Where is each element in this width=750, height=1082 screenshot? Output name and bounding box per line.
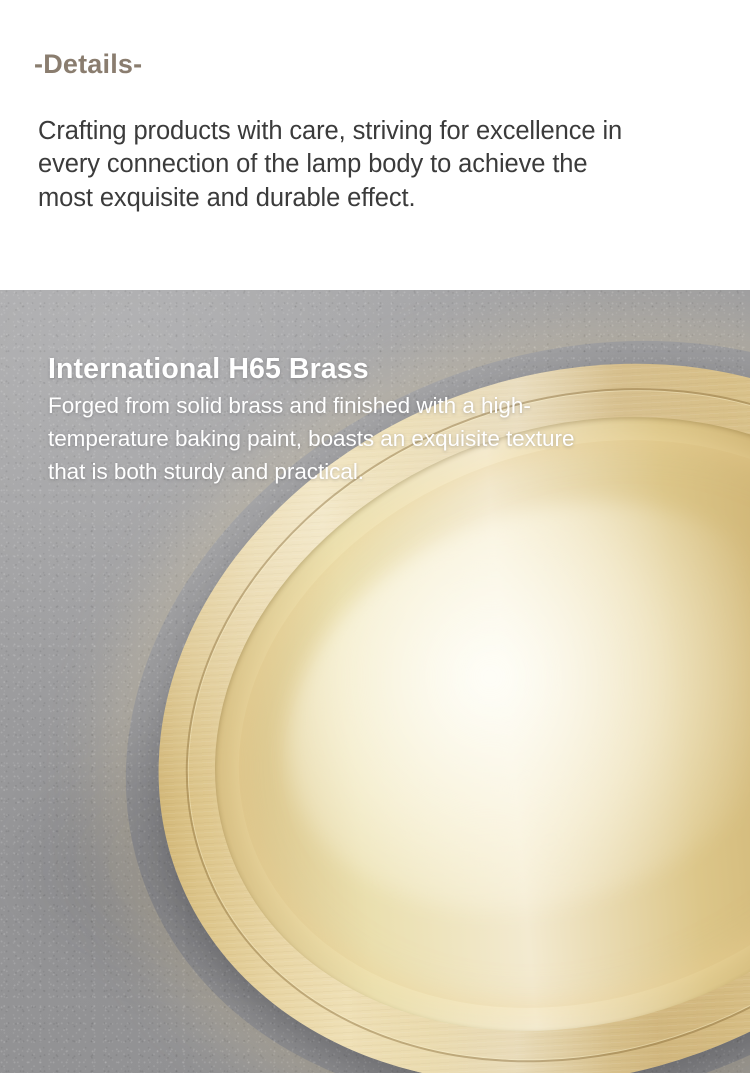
bottom-white-strip — [0, 1073, 750, 1082]
details-section: -Details- Crafting products with care, s… — [0, 0, 750, 290]
photo-overlay-heading: International H65 Brass — [48, 355, 369, 384]
details-heading: -Details- — [34, 51, 142, 78]
photo-overlay-body-text: Forged from solid brass and finished wit… — [48, 389, 588, 488]
product-photo-section: International H65 Brass Forged from soli… — [0, 290, 750, 1073]
details-body-text: Crafting products with care, striving fo… — [38, 115, 638, 216]
